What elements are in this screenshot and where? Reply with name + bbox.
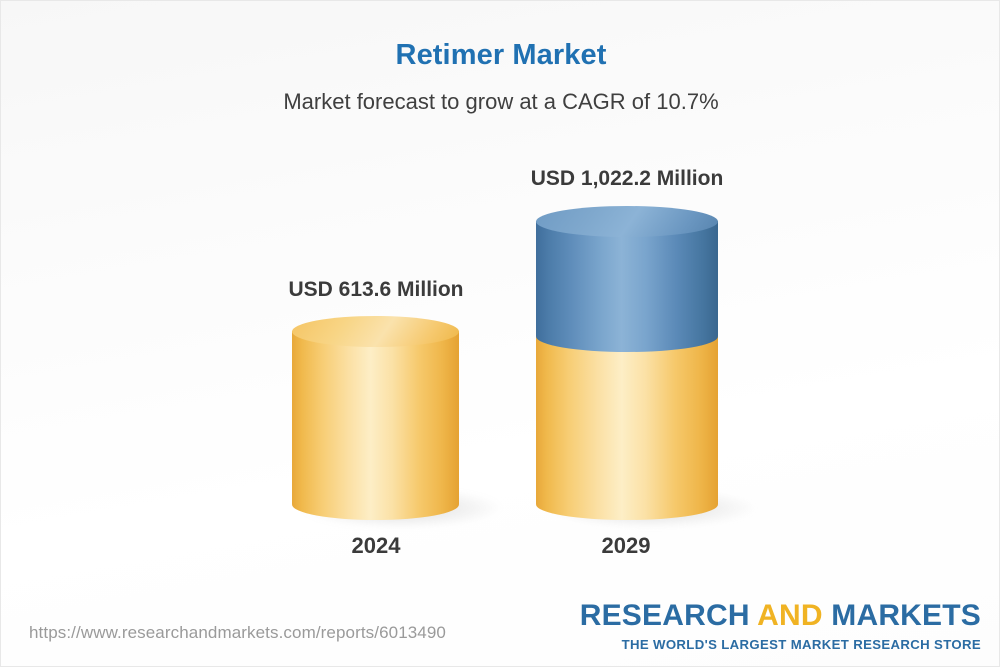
cylinder-bottom-cap-2029 [536, 489, 718, 520]
value-label-2024: USD 613.6 Million [256, 278, 496, 302]
logo-wordmark: RESEARCH AND MARKETS [580, 601, 981, 631]
cylinder-body-2024 [292, 331, 459, 504]
cylinder-base-body-2029 [536, 336, 718, 504]
logo-word-markets: MARKETS [831, 599, 981, 632]
category-label-2029: 2029 [526, 533, 726, 559]
cylinder-growth-bottom-cap-2029 [536, 321, 718, 352]
source-url[interactable]: https://www.researchandmarkets.com/repor… [29, 623, 446, 643]
chart-canvas: Retimer Market Market forecast to grow a… [0, 0, 1000, 667]
value-label-2029: USD 1,022.2 Million [507, 167, 747, 191]
logo-tagline: THE WORLD'S LARGEST MARKET RESEARCH STOR… [580, 638, 981, 651]
research-and-markets-logo: RESEARCH AND MARKETS THE WORLD'S LARGEST… [580, 601, 981, 651]
cylinder-top-cap-2024 [292, 316, 459, 347]
category-label-2024: 2024 [276, 533, 476, 559]
cylinder-bottom-cap-2024 [292, 489, 459, 520]
cylinder-top-cap-2029 [536, 206, 718, 237]
logo-word-research: RESEARCH [580, 599, 757, 632]
logo-word-and: AND [757, 599, 831, 632]
plot-area: USD 613.6 Million 2024 USD 1,022.2 Milli… [1, 1, 1000, 667]
cylinder-growth-body-2029 [536, 221, 718, 336]
